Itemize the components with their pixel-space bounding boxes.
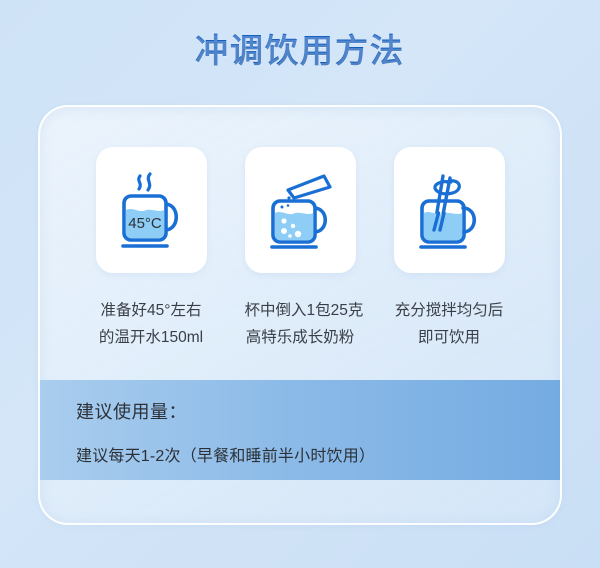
step-icons-row: 45°C (40, 147, 560, 273)
usage-panel-title: 建议使用量： (76, 398, 562, 424)
mug-temperature-label: 45°C (128, 215, 162, 232)
step-2-icon-tile (245, 147, 356, 273)
step-3-caption: 充分搅拌均匀后 即可饮用 (394, 297, 505, 351)
hot-mug-icon: 45°C (111, 168, 191, 252)
usage-panel-text: 建议每天1-2次（早餐和睡前半小时饮用） (76, 442, 562, 466)
stirring-mug-icon (409, 168, 489, 252)
instructions-card: 45°C (38, 105, 562, 525)
step-3-icon-tile (394, 147, 505, 273)
step-2-caption-line-1: 杯中倒入1包25克 (245, 297, 356, 324)
step-1-caption-line-2: 的温开水150ml (96, 324, 207, 351)
page-title-container: 冲调饮用方法 (0, 0, 600, 96)
step-2-caption: 杯中倒入1包25克 高特乐成长奶粉 (245, 297, 356, 351)
step-3-caption-line-1: 充分搅拌均匀后 (394, 297, 505, 324)
step-1-caption-line-1: 准备好45°左右 (96, 297, 207, 324)
pouring-sachet-mug-icon (260, 168, 340, 252)
step-3-caption-line-2: 即可饮用 (394, 324, 505, 351)
step-1-caption: 准备好45°左右 的温开水150ml (96, 297, 207, 351)
usage-recommendation-panel: 建议使用量： 建议每天1-2次（早餐和睡前半小时饮用） (40, 380, 562, 480)
step-2-caption-line-2: 高特乐成长奶粉 (245, 324, 356, 351)
page-title: 冲调饮用方法 (195, 24, 405, 72)
step-1-icon-tile: 45°C (96, 147, 207, 273)
step-captions-row: 准备好45°左右 的温开水150ml 杯中倒入1包25克 高特乐成长奶粉 充分搅… (40, 297, 560, 351)
